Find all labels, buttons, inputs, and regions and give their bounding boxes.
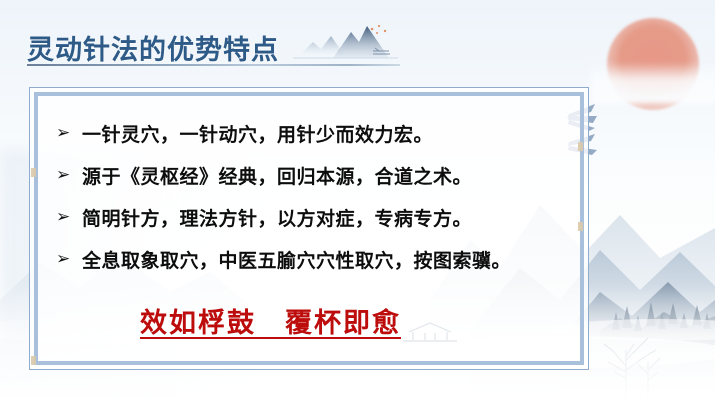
list-item-label: 简明针方，理法方针，以方对症，专病专方。 (82, 204, 472, 231)
arrow-bullet-icon: ➢ (56, 167, 82, 184)
slide: 灵动针法的优势特点 (0, 0, 715, 404)
list-item: ➢ 全息取象取穴，中医五腧穴穴性取穴，按图索骥。 (56, 238, 576, 280)
arrow-bullet-icon: ➢ (56, 125, 82, 142)
pavilion-watermark-icon (395, 318, 465, 344)
bamboo-node (31, 356, 36, 365)
title-block: 灵动针法的优势特点 (27, 20, 398, 64)
bamboo-node (578, 222, 583, 231)
ink-mountain-icon (293, 20, 398, 64)
bare-tree-icon (604, 338, 660, 400)
slogan-text: 效如桴鼓 覆杯即愈 (140, 301, 401, 340)
bamboo-node (578, 142, 583, 151)
page-title: 灵动针法的优势特点 (27, 37, 279, 64)
pine-ridge-shape (600, 312, 715, 352)
list-item-label: 全息取象取穴，中医五腧穴穴性取穴，按图索骥。 (82, 246, 511, 273)
arrow-bullet-icon: ➢ (56, 209, 82, 226)
list-item: ➢ 简明针方，理法方针，以方对症，专病专方。 (56, 196, 576, 238)
list-item: ➢ 一针灵穴，一针动穴，用针少而效力宏。 (56, 112, 576, 154)
pine-forest-icon (612, 302, 711, 331)
list-item-label: 源于《灵枢经》经典，回归本源，合道之术。 (82, 162, 472, 189)
list-item-label: 一针灵穴，一针动穴，用针少而效力宏。 (82, 120, 433, 147)
title-underline-rule (27, 64, 400, 66)
arrow-bullet-icon: ➢ (56, 251, 82, 268)
bamboo-node (31, 168, 36, 177)
bullet-list: ➢ 一针灵穴，一针动穴，用针少而效力宏。 ➢ 源于《灵枢经》经典，回归本源，合道… (56, 112, 576, 280)
list-item: ➢ 源于《灵枢经》经典，回归本源，合道之术。 (56, 154, 576, 196)
